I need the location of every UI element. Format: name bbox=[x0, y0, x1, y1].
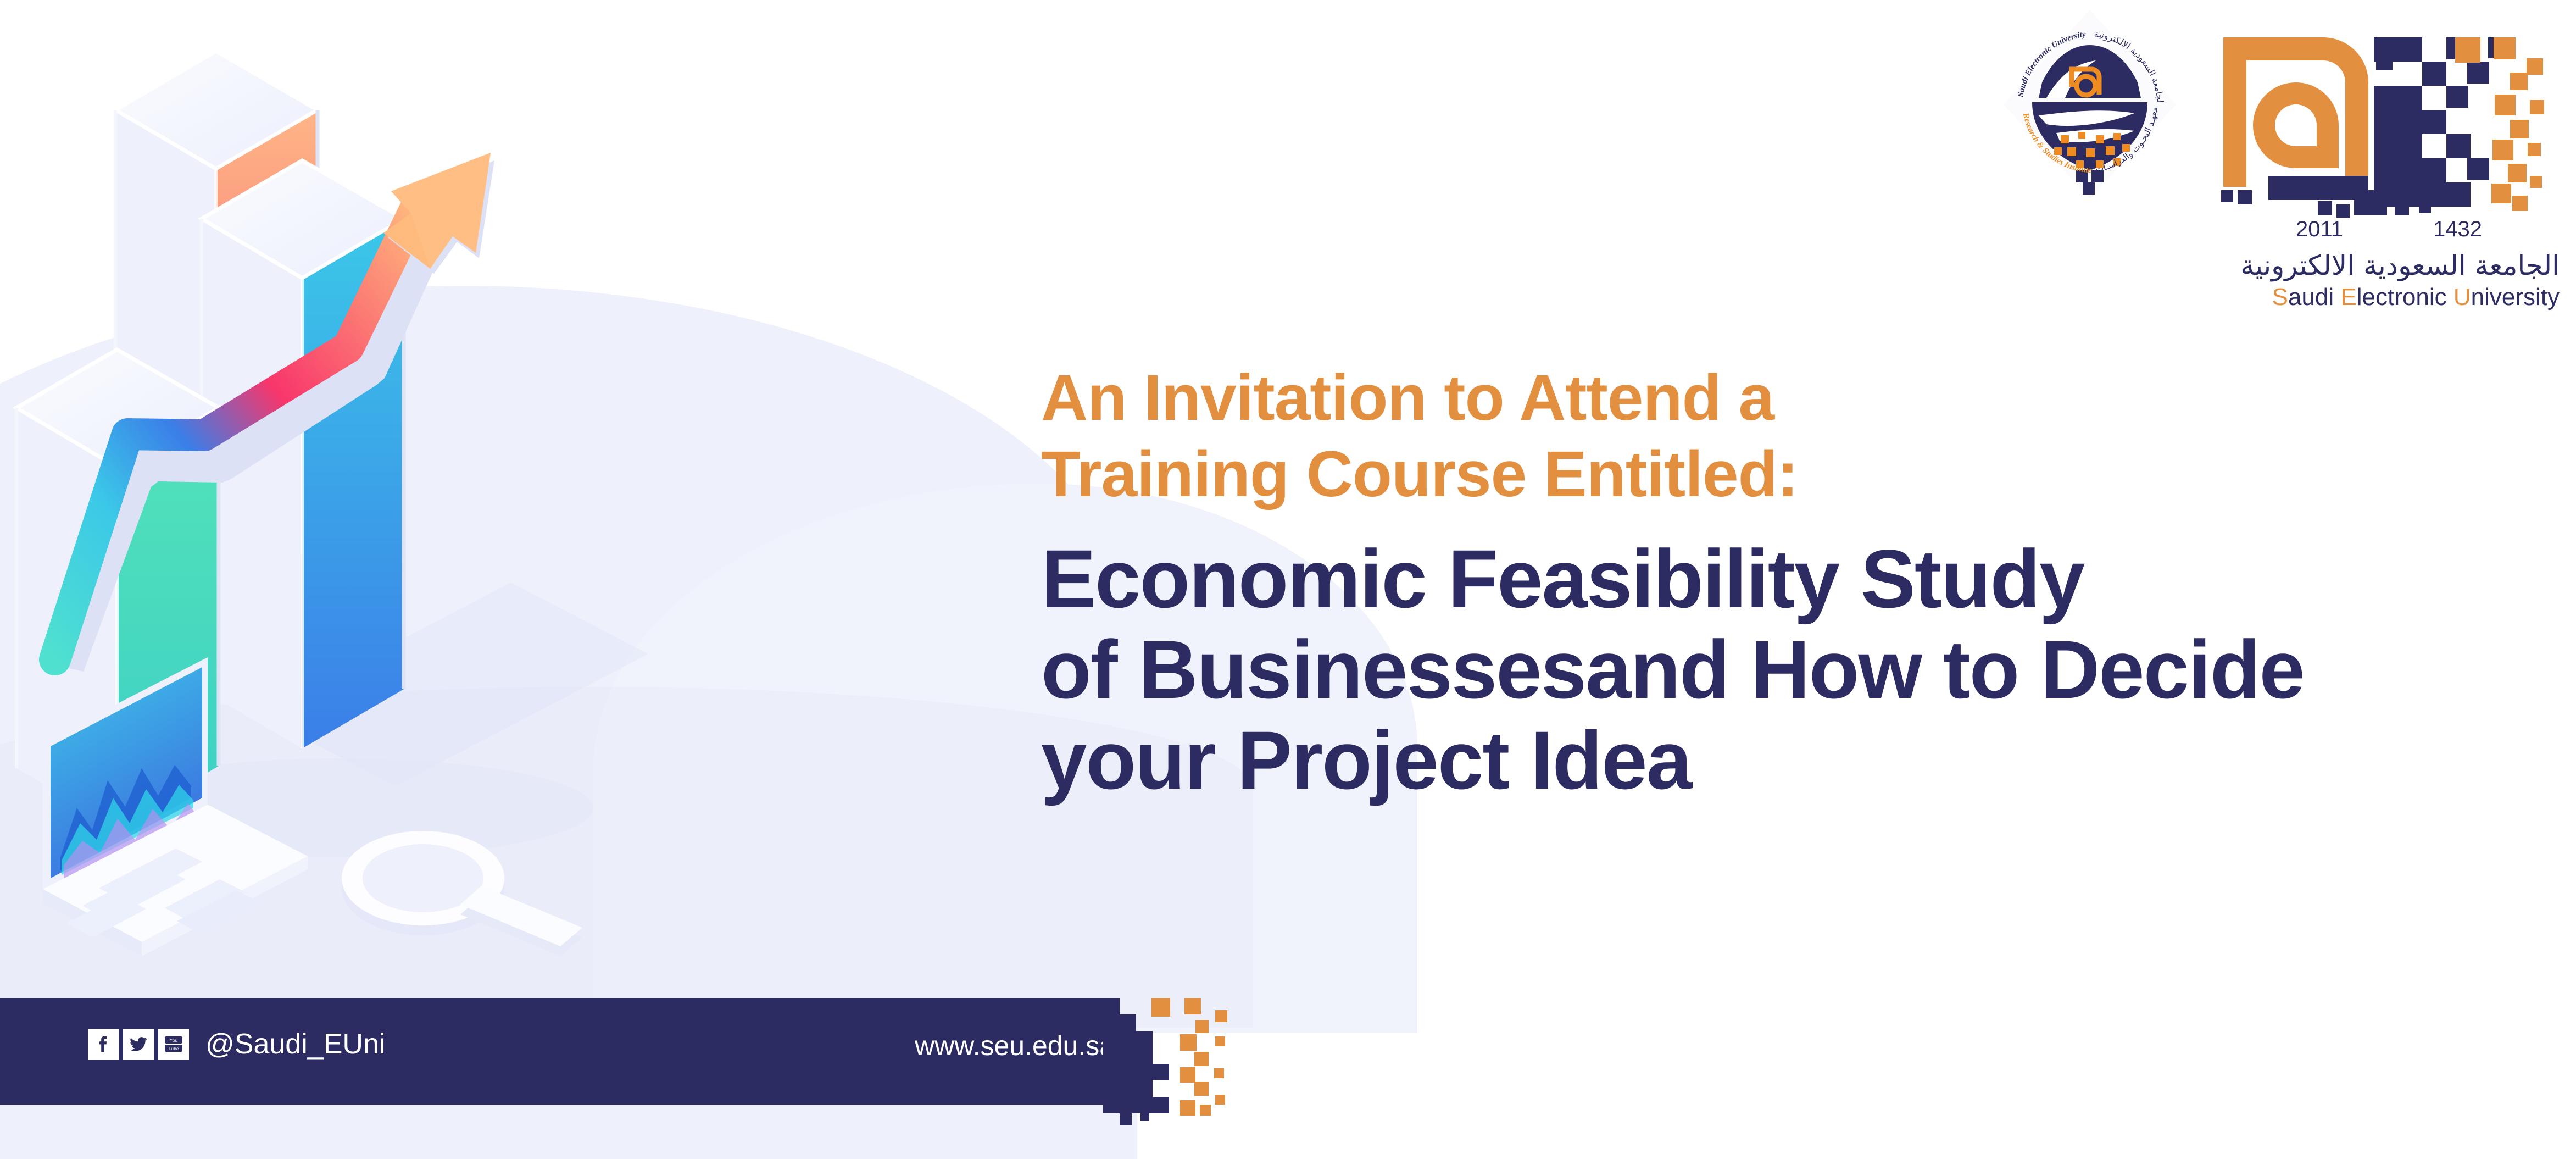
research-studies-institute-logo: Saudi Electronic University Research & S… bbox=[1999, 5, 2180, 203]
promotional-banner: Saudi Electronic University Research & S… bbox=[0, 0, 2576, 1159]
course-title: Economic Feasibility Study of Businesses… bbox=[1041, 534, 2513, 806]
youtube-icon[interactable]: You Tube bbox=[158, 1029, 189, 1060]
svg-text:Tube: Tube bbox=[168, 1046, 179, 1051]
website-url[interactable]: www.seu.edu.sa bbox=[915, 1032, 1115, 1060]
social-links: You Tube @Saudi_EUni bbox=[88, 1029, 385, 1060]
year-hijri: 1432 bbox=[2433, 217, 2482, 241]
footer-pixel-mosaic bbox=[1103, 998, 1284, 1141]
isometric-growth-chart-illustration bbox=[0, 0, 934, 1006]
footer-bar: You Tube @Saudi_EUni www.seu.edu.sa bbox=[0, 998, 1103, 1105]
magnifier-icon bbox=[342, 831, 582, 956]
facebook-icon[interactable] bbox=[88, 1029, 119, 1060]
text-block: An Invitation to Attend a Training Cours… bbox=[1041, 360, 2513, 806]
year-gregorian: 2011 bbox=[2296, 217, 2343, 241]
svg-text:Saudi Electronic University: Saudi Electronic University bbox=[2272, 284, 2560, 310]
svg-text:You: You bbox=[170, 1038, 178, 1043]
social-handle: @Saudi_EUni bbox=[205, 1030, 385, 1058]
course-invitation-subtitle: An Invitation to Attend a Training Cours… bbox=[1041, 360, 2513, 513]
saudi-electronic-university-logo: 2011 1432 الجامعة السعودية الالكترونية S… bbox=[2213, 5, 2565, 313]
logo-group: Saudi Electronic University Research & S… bbox=[1999, 5, 2565, 313]
university-arabic-name: الجامعة السعودية الالكترونية bbox=[2240, 249, 2560, 282]
twitter-icon[interactable] bbox=[123, 1029, 154, 1060]
